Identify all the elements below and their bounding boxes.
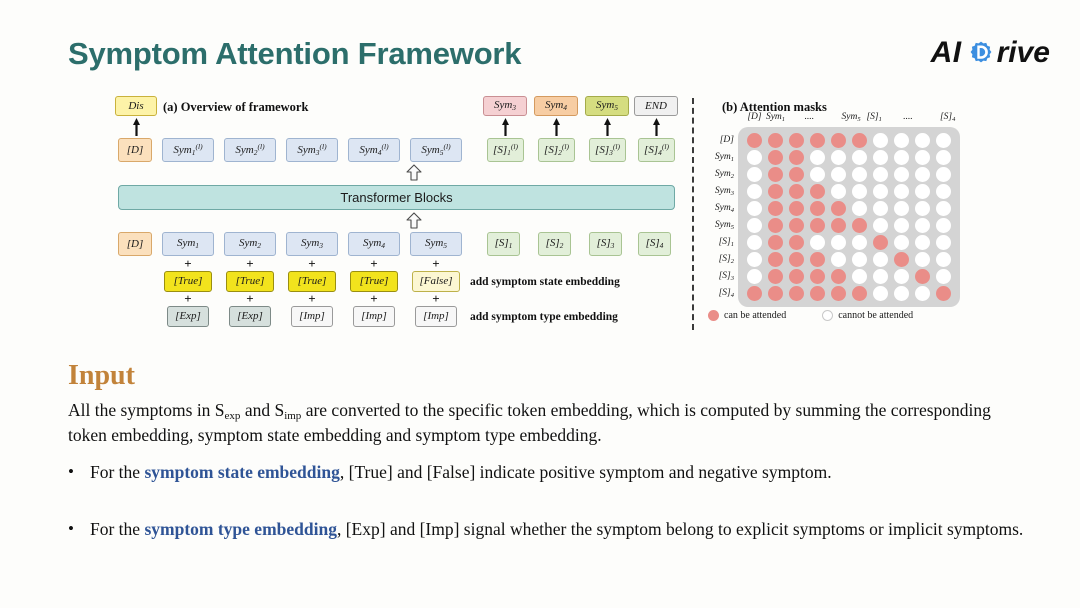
plus-sign-type-3: + bbox=[286, 292, 338, 305]
arrow-up-sym5-icon bbox=[603, 118, 612, 136]
input-token-s2: [S]2 bbox=[538, 232, 571, 256]
input-token-s4: [S]4 bbox=[638, 232, 671, 256]
bullet-1-highlight: symptom state embedding bbox=[144, 462, 339, 482]
arrow-up-sym3-icon bbox=[501, 118, 510, 136]
plus-sign-type-5: + bbox=[410, 292, 462, 305]
para-part1: All the symptoms in S bbox=[68, 400, 225, 420]
bullet-1-suffix: , [True] and [False] indicate positive s… bbox=[340, 462, 832, 482]
input-paragraph: All the symptoms in Sexp and Simp are co… bbox=[68, 399, 1030, 447]
arrow-up-end-icon bbox=[652, 118, 661, 136]
note-state-embedding: add symptom state embedding bbox=[470, 276, 620, 288]
arrow-up-dis-icon bbox=[132, 118, 141, 136]
output-token-sym4: Sym4 bbox=[534, 96, 578, 116]
input-token-s1: [S]1 bbox=[487, 232, 520, 256]
hidden-token-d: [D] bbox=[118, 138, 152, 162]
mask-row-label-6: Sym5 bbox=[694, 220, 734, 231]
plus-sign-state-1: + bbox=[162, 257, 214, 270]
legend-attended-dot-icon bbox=[708, 310, 719, 321]
type-token-imp-3: [Imp] bbox=[291, 306, 333, 327]
bullet-text-2: For the symptom type embedding, [Exp] an… bbox=[90, 517, 1036, 541]
bullet-item-state: • For the symptom state embedding, [True… bbox=[68, 460, 1036, 484]
page-title: Symptom Attention Framework bbox=[68, 36, 521, 72]
bullet-text-1: For the symptom state embedding, [True] … bbox=[90, 460, 1036, 484]
type-token-exp-2: [Exp] bbox=[229, 306, 271, 327]
bullet-item-type: • For the symptom type embedding, [Exp] … bbox=[68, 517, 1036, 541]
plus-sign-type-4: + bbox=[348, 292, 400, 305]
figure-caption-a: (a) Overview of framework bbox=[163, 100, 308, 115]
framework-figure: (a) Overview of framework (b) Attention … bbox=[0, 88, 1080, 346]
state-token-false-5: [False] bbox=[412, 271, 460, 292]
mask-col-label-2: Sym1 bbox=[759, 112, 793, 123]
state-token-true-2: [True] bbox=[226, 271, 274, 292]
bullet-marker-2: • bbox=[68, 517, 90, 540]
plus-sign-state-5: + bbox=[410, 257, 462, 270]
state-token-true-4: [True] bbox=[350, 271, 398, 292]
input-token-s3: [S]3 bbox=[589, 232, 622, 256]
hidden-token-s1: [S]1(l) bbox=[487, 138, 524, 162]
slide-header: Symptom Attention Framework AI rive bbox=[0, 0, 1080, 88]
hidden-token-sym2: Sym2(l) bbox=[224, 138, 276, 162]
mask-row-label-2: Sym1 bbox=[694, 152, 734, 163]
output-token-sym5: Sym5 bbox=[585, 96, 629, 116]
input-token-sym3: Sym3 bbox=[286, 232, 338, 256]
block-arrow-up-in-icon bbox=[406, 212, 422, 229]
logo-ai-text: AI bbox=[931, 36, 962, 70]
bullet-1-prefix: For the bbox=[90, 462, 144, 482]
plus-sign-state-3: + bbox=[286, 257, 338, 270]
arrow-up-sym4-icon bbox=[552, 118, 561, 136]
output-token-sym3: Sym3 bbox=[483, 96, 527, 116]
hidden-token-sym4: Sym4(l) bbox=[348, 138, 400, 162]
section-heading-input: Input bbox=[68, 360, 135, 392]
plus-sign-state-2: + bbox=[224, 257, 276, 270]
mask-row-label-10: [S]4 bbox=[694, 288, 734, 299]
bullet-marker-1: • bbox=[68, 460, 90, 483]
bullet-2-suffix: , [Exp] and [Imp] signal whether the sym… bbox=[337, 519, 1023, 539]
hidden-token-s2: [S]2(l) bbox=[538, 138, 575, 162]
aidrive-logo: AI rive bbox=[931, 36, 1050, 70]
mask-row-label-5: Sym4 bbox=[694, 203, 734, 214]
para-sub-exp: exp bbox=[225, 410, 241, 422]
input-token-sym2: Sym2 bbox=[224, 232, 276, 256]
input-token-d: [D] bbox=[118, 232, 152, 256]
slide-body: Input All the symptoms in Sexp and Simp … bbox=[0, 352, 1080, 608]
mask-row-label-4: Sym3 bbox=[694, 186, 734, 197]
type-token-imp-5: [Imp] bbox=[415, 306, 457, 327]
output-token-end: END bbox=[634, 96, 678, 116]
mask-col-label-7: [S]4 bbox=[931, 112, 965, 123]
input-token-sym4: Sym4 bbox=[348, 232, 400, 256]
mask-legend: can be attended cannot be attended bbox=[708, 310, 913, 321]
plus-sign-state-4: + bbox=[348, 257, 400, 270]
type-token-imp-4: [Imp] bbox=[353, 306, 395, 327]
hidden-token-s4: [S]4(l) bbox=[638, 138, 675, 162]
hidden-token-sym1: Sym1(l) bbox=[162, 138, 214, 162]
bullet-2-prefix: For the bbox=[90, 519, 144, 539]
mask-row-label-7: [S]1 bbox=[694, 237, 734, 248]
mask-col-label-3: .... bbox=[792, 112, 826, 122]
mask-col-label-6: .... bbox=[891, 112, 925, 122]
attention-mask-panel: [D]Sym1....Sym5[S]1....[S]4 [D]Sym1Sym2S… bbox=[700, 88, 1080, 346]
para-part2: and S bbox=[240, 400, 284, 420]
mask-col-label-5: [S]1 bbox=[857, 112, 891, 123]
mask-row-label-8: [S]2 bbox=[694, 254, 734, 265]
transformer-blocks-bar: Transformer Blocks bbox=[118, 185, 675, 210]
input-token-sym1: Sym1 bbox=[162, 232, 214, 256]
mask-row-label-1: [D] bbox=[694, 135, 734, 145]
hidden-token-sym5: Sym5(l) bbox=[410, 138, 462, 162]
hidden-token-s3: [S]3(l) bbox=[589, 138, 626, 162]
legend-not-attended-label: cannot be attended bbox=[838, 310, 913, 321]
bullet-2-highlight: symptom type embedding bbox=[144, 519, 337, 539]
legend-attended: can be attended bbox=[708, 310, 786, 321]
output-token-dis: Dis bbox=[115, 96, 157, 116]
block-arrow-up-out-icon bbox=[406, 164, 422, 181]
plus-sign-type-1: + bbox=[162, 292, 214, 305]
state-token-true-3: [True] bbox=[288, 271, 336, 292]
type-token-exp-1: [Exp] bbox=[167, 306, 209, 327]
legend-not-attended-dot-icon bbox=[822, 310, 833, 321]
input-token-sym5: Sym5 bbox=[410, 232, 462, 256]
para-sub-imp: imp bbox=[284, 410, 301, 422]
note-type-embedding: add symptom type embedding bbox=[470, 311, 618, 323]
legend-not-attended: cannot be attended bbox=[822, 310, 913, 321]
state-token-true-1: [True] bbox=[164, 271, 212, 292]
gear-d-icon bbox=[968, 40, 994, 66]
mask-row-label-9: [S]3 bbox=[694, 271, 734, 282]
hidden-token-sym3: Sym3(l) bbox=[286, 138, 338, 162]
legend-attended-label: can be attended bbox=[724, 310, 786, 321]
plus-sign-type-2: + bbox=[224, 292, 276, 305]
mask-row-label-3: Sym2 bbox=[694, 169, 734, 180]
logo-rive-text: rive bbox=[997, 36, 1050, 70]
